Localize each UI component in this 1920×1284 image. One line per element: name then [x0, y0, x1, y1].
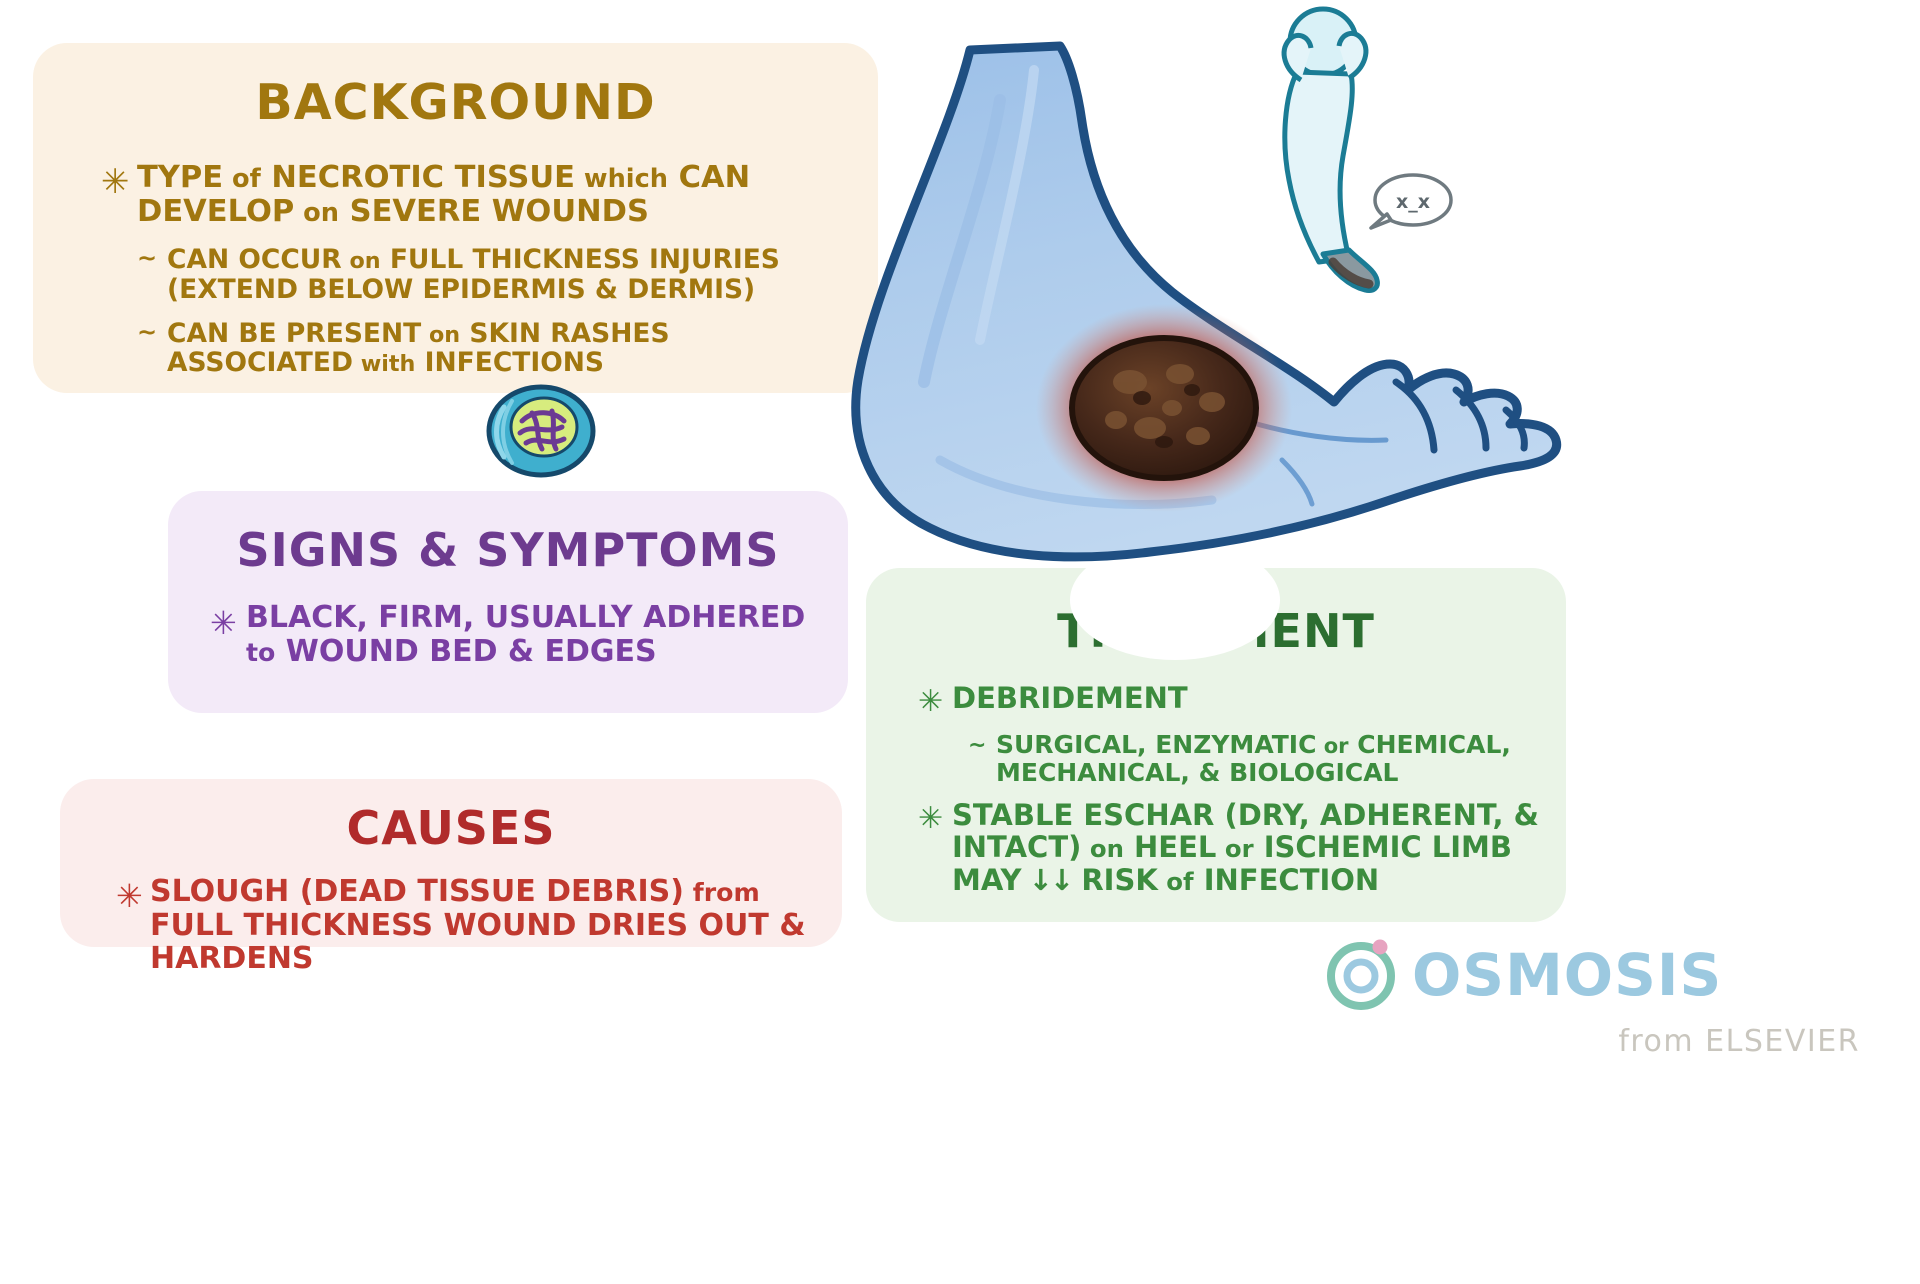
osmosis-logo: OSMOSIS from ELSEVIER	[1318, 930, 1878, 1060]
asterisk-bullet-icon: ✳	[918, 684, 952, 719]
list-item: ✳ STABLE ESCHAR (DRY, ADHERENT, & INTACT…	[918, 799, 1540, 896]
tilde-bullet-icon: ~	[137, 319, 167, 345]
list-item: ~ CAN OCCUR on FULL THICKNESS INJURIES (…	[137, 245, 838, 304]
list-item: ~ CAN BE PRESENT on SKIN RASHES ASSOCIAT…	[137, 319, 838, 378]
signs-and-symptoms-card: SIGNS & SYMPTOMS ✳ BLACK, FIRM, USUALLY …	[168, 491, 848, 713]
osmosis-tagline: from ELSEVIER	[1318, 1024, 1878, 1059]
signs-card-title: SIGNS & SYMPTOMS	[168, 491, 848, 573]
signs-bullet-text: BLACK, FIRM, USUALLY ADHERED to WOUND BE…	[246, 601, 820, 668]
background-sub-bullet-text: CAN OCCUR on FULL THICKNESS INJURIES (EX…	[167, 245, 838, 304]
treatment-sub-bullet-text: SURGICAL, ENZYMATIC or CHEMICAL, MECHANI…	[996, 731, 1530, 787]
tilde-bullet-icon: ~	[137, 245, 167, 271]
causes-card: CAUSES ✳ SLOUGH (DEAD TISSUE DEBRIS) fro…	[60, 779, 842, 947]
list-item: ✳ DEBRIDEMENT	[918, 682, 1540, 719]
tilde-bullet-icon: ~	[968, 733, 996, 758]
background-sub-bullet-text: CAN BE PRESENT on SKIN RASHES ASSOCIATED…	[167, 319, 838, 378]
background-sub-bullet-list: ~ CAN OCCUR on FULL THICKNESS INJURIES (…	[33, 245, 878, 378]
signs-bullet-list: ✳ BLACK, FIRM, USUALLY ADHERED to WOUND …	[168, 601, 848, 668]
background-card-title: BACKGROUND	[33, 43, 878, 127]
list-item: ~ SURGICAL, ENZYMATIC or CHEMICAL, MECHA…	[968, 731, 1530, 787]
asterisk-bullet-icon: ✳	[918, 801, 952, 836]
asterisk-bullet-icon: ✳	[210, 604, 246, 642]
asterisk-bullet-icon: ✳	[101, 165, 137, 199]
speech-bubble-text: x_x	[1396, 191, 1430, 213]
osmosis-wordmark: OSMOSIS	[1412, 941, 1722, 1009]
causes-bullet-list: ✳ SLOUGH (DEAD TISSUE DEBRIS) from FULL …	[60, 875, 842, 976]
list-item: ✳ SLOUGH (DEAD TISSUE DEBRIS) from FULL …	[116, 875, 812, 976]
person-in-pain-illustration: x_x	[1245, 0, 1475, 300]
treatment-sub-bullet-list: ~ SURGICAL, ENZYMATIC or CHEMICAL, MECHA…	[918, 731, 1540, 787]
treatment-bullet-list: ✳ DEBRIDEMENT ~ SURGICAL, ENZYMATIC or C…	[866, 682, 1566, 896]
list-item: ✳ TYPE of NECROTIC TISSUE which CAN DEVE…	[101, 161, 860, 229]
causes-card-title: CAUSES	[60, 779, 842, 851]
background-card: BACKGROUND ✳ TYPE of NECROTIC TISSUE whi…	[33, 43, 878, 393]
osmosis-logo-row: OSMOSIS	[1318, 930, 1878, 1020]
treatment-bullet-text: DEBRIDEMENT	[952, 682, 1540, 714]
background-bullet-text: TYPE of NECROTIC TISSUE which CAN DEVELO…	[137, 161, 860, 229]
asterisk-bullet-icon: ✳	[116, 877, 150, 915]
list-item: ✳ BLACK, FIRM, USUALLY ADHERED to WOUND …	[210, 601, 820, 668]
infographic-canvas: BACKGROUND ✳ TYPE of NECROTIC TISSUE whi…	[0, 0, 1920, 1284]
bacteria-cell-illustration	[482, 383, 600, 479]
treatment-bullet-text: STABLE ESCHAR (DRY, ADHERENT, & INTACT) …	[952, 799, 1540, 896]
causes-bullet-text: SLOUGH (DEAD TISSUE DEBRIS) from FULL TH…	[150, 875, 812, 976]
background-bullet-list: ✳ TYPE of NECROTIC TISSUE which CAN DEVE…	[33, 161, 878, 229]
osmosis-mark-icon	[1318, 930, 1404, 1020]
